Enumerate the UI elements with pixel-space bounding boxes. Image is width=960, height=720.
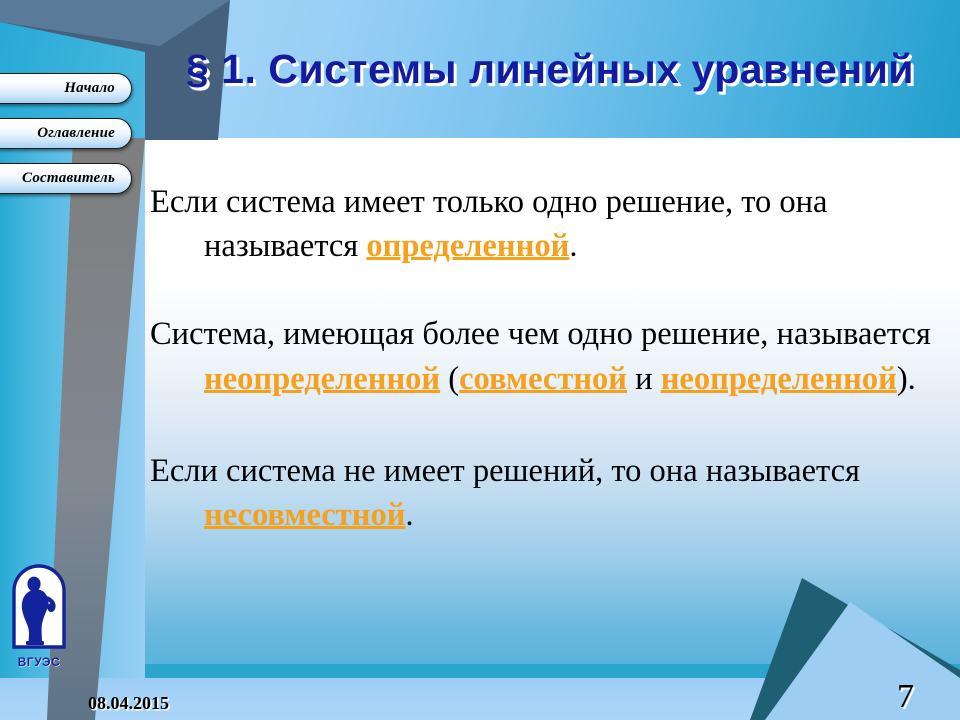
body-paragraph: Если система имеет только одно решение, … — [150, 180, 950, 268]
paragraph-text: ( — [440, 361, 459, 397]
slide-body: Если система имеет только одно решение, … — [150, 180, 950, 581]
nav-button-label: Оглавление — [37, 125, 115, 142]
nav-button-sostavitel[interactable]: Составитель — [0, 163, 132, 194]
paragraph-text: ). — [897, 361, 916, 397]
highlighted-term: несовместной — [204, 497, 405, 533]
highlighted-term: неопределенной — [204, 361, 440, 397]
highlighted-term: неопределенной — [661, 361, 897, 397]
paragraph-text: Если система не имеет решений, то она на… — [150, 453, 860, 489]
page-number: 7 — [897, 678, 914, 716]
university-logo: ВГУЭС — [8, 563, 70, 669]
nav-button-nachalo[interactable]: Начало — [0, 73, 132, 104]
nav-button-label: Составитель — [22, 170, 115, 187]
paragraph-text: и — [627, 361, 661, 397]
slide-title: § 1. Системы линейных уравнений — [150, 46, 950, 93]
corner-decoration-shape — [690, 560, 960, 720]
nav-button-label: Начало — [64, 80, 115, 97]
paragraph-text: . — [405, 497, 413, 533]
body-paragraph: Если система не имеет решений, то она на… — [150, 449, 950, 537]
paragraph-text: . — [569, 228, 577, 264]
logo-label: ВГУЭС — [8, 655, 70, 669]
presentation-slide: Начало Оглавление Составитель § 1. Систе… — [0, 0, 960, 720]
highlighted-term: определенной — [366, 228, 569, 264]
body-paragraph: Система, имеющая более чем одно решение,… — [150, 312, 950, 400]
paragraph-text: Система, имеющая более чем одно решение,… — [150, 316, 931, 352]
highlighted-term: совместной — [459, 361, 627, 397]
nav-button-oglavlenie[interactable]: Оглавление — [0, 118, 132, 149]
slide-date: 08.04.2015 — [88, 693, 169, 714]
statue-figure-arch-icon — [8, 563, 70, 649]
